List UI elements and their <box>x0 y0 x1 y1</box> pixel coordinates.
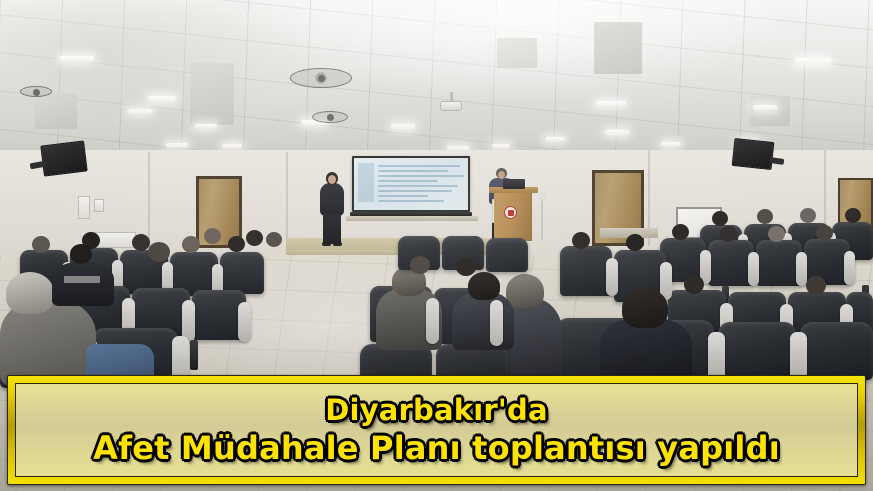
slide-text-line <box>378 200 444 202</box>
ceiling-panel <box>750 96 790 126</box>
attendee-head <box>228 236 245 252</box>
presenter-woman-shoe <box>322 242 331 246</box>
ceiling-light <box>195 124 217 128</box>
attendee-head <box>572 232 590 249</box>
attendee-body <box>52 262 114 306</box>
seat <box>560 246 612 296</box>
wall-monitor-left <box>40 140 87 176</box>
attendee-head <box>800 208 816 223</box>
presenter-woman-shoe <box>333 242 342 246</box>
attendee-head <box>6 272 54 314</box>
ceiling-fan <box>20 86 52 97</box>
projection-screen <box>352 156 470 212</box>
attendee-head <box>768 226 785 242</box>
ceiling-light <box>391 124 415 129</box>
ceiling-light <box>545 137 565 141</box>
seat-armrest <box>606 258 618 296</box>
screen-shelf <box>346 216 478 221</box>
seat <box>718 322 796 380</box>
seat-armrest <box>796 252 807 286</box>
ceiling-light <box>148 96 176 101</box>
ceiling-fan <box>290 68 352 88</box>
attendee-head <box>468 272 500 300</box>
attendee-head <box>816 225 833 241</box>
ceiling-light <box>166 143 188 147</box>
attendee-head <box>712 211 728 226</box>
news-photo-with-caption: Diyarbakır'da Afet Müdahale Planı toplan… <box>0 0 873 491</box>
seat-armrest <box>238 302 251 342</box>
seat <box>220 252 264 294</box>
ceiling-light <box>492 144 510 148</box>
attendee-body <box>452 292 514 350</box>
attendee-head <box>672 224 689 240</box>
caption-panel: Diyarbakır'da Afet Müdahale Planı toplan… <box>15 383 858 477</box>
caption-banner: Diyarbakır'da Afet Müdahale Planı toplan… <box>7 375 866 485</box>
wall-seam <box>286 152 288 244</box>
ceiling-panel <box>497 38 537 68</box>
projection-slide <box>354 158 468 210</box>
fan-hub <box>327 114 334 121</box>
ceiling-light <box>128 109 152 113</box>
ceiling-light <box>661 142 681 146</box>
wall-outlet-panel <box>94 199 104 212</box>
speaker-man-face <box>498 171 505 179</box>
slide-text-line <box>378 165 460 167</box>
caption-line-1: Diyarbakır'da <box>325 393 547 427</box>
slide-text-line <box>378 190 452 192</box>
attendee-head <box>506 274 544 308</box>
ceiling-light <box>596 101 626 106</box>
ceiling-fan <box>312 111 348 123</box>
fan-hub <box>318 75 325 82</box>
ceiling-light <box>795 58 831 64</box>
attendee-head <box>845 208 861 223</box>
attendee-head <box>70 244 92 264</box>
attendee-head <box>622 288 668 328</box>
seat-leg <box>190 340 198 370</box>
seat-armrest <box>426 298 439 344</box>
attendee-head <box>182 236 200 253</box>
wall-control-panel <box>78 196 90 219</box>
attendee-head <box>626 234 644 251</box>
slide-text-line <box>378 170 448 172</box>
attendee-head <box>684 275 704 294</box>
attendee-head <box>757 209 773 224</box>
presenter-woman-legs <box>323 214 341 244</box>
presenter-woman-face <box>328 175 336 184</box>
monitor-screen <box>40 140 87 176</box>
microphone-head <box>537 192 546 201</box>
slide-text-line <box>378 180 438 182</box>
seat <box>800 322 873 380</box>
ceiling-light <box>222 144 242 148</box>
vest-print <box>64 276 100 283</box>
attendee-head <box>720 226 737 242</box>
ceiling-light <box>605 130 629 135</box>
seat-armrest <box>748 252 759 286</box>
attendee-head <box>456 258 476 276</box>
seat-armrest <box>490 300 503 346</box>
caption-line-2: Afet Müdahale Planı toplantısı yapıldı <box>93 429 780 467</box>
microphone-stand <box>541 196 543 240</box>
attendee-head <box>266 232 282 247</box>
ceiling-panel <box>35 93 77 129</box>
slide-sidebar <box>358 163 374 202</box>
attendee-head <box>806 276 826 295</box>
presenter-woman-body <box>320 183 344 216</box>
attendee-head <box>132 234 150 251</box>
attendee-head <box>32 236 50 253</box>
attendee-body <box>0 300 96 386</box>
laptop <box>503 179 525 189</box>
ceiling-panel <box>190 63 234 125</box>
attendee-head <box>148 242 170 262</box>
slide-text-line <box>378 185 458 187</box>
monitor-screen <box>732 138 775 170</box>
institution-emblem <box>504 206 517 219</box>
wall-monitor-right <box>732 138 775 170</box>
seat <box>486 238 528 272</box>
fan-hub <box>33 89 40 96</box>
seat-armrest <box>844 251 855 285</box>
attendee-head <box>410 256 430 274</box>
ceiling-light <box>753 105 777 110</box>
ceiling-light <box>60 56 94 61</box>
attendee-head <box>204 228 221 244</box>
slide-text-line <box>378 195 428 197</box>
projector <box>440 101 462 111</box>
slide-text-line <box>378 175 464 177</box>
ceiling-panel <box>594 22 642 74</box>
attendee-head <box>246 230 263 246</box>
